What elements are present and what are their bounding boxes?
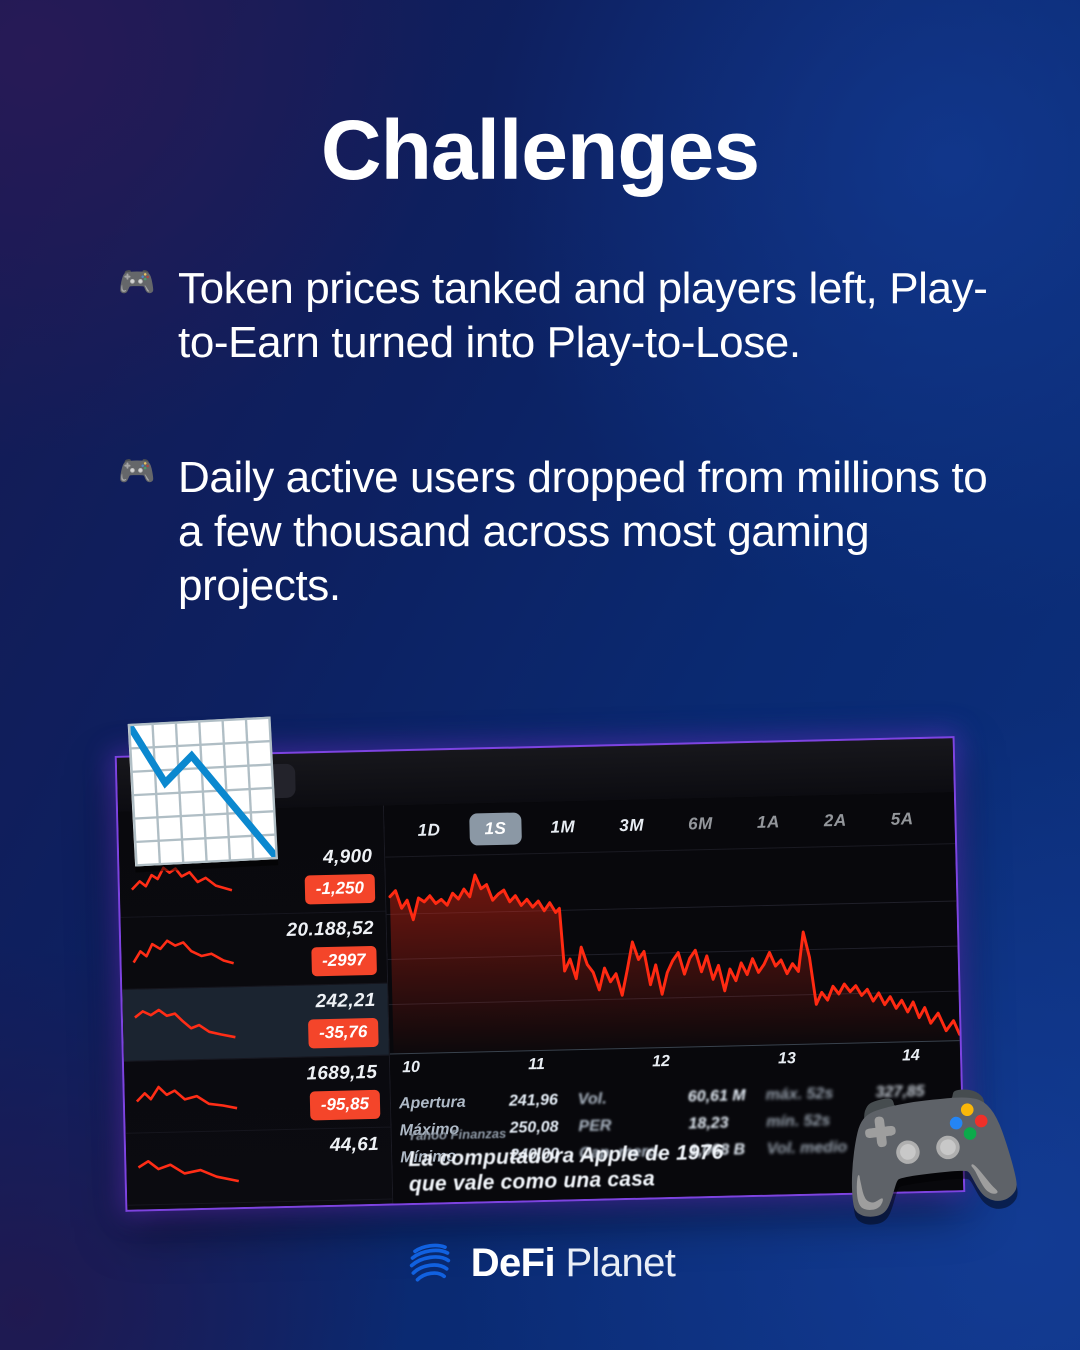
watch-value: 242,21 xyxy=(315,990,375,1013)
x-tick: 10 xyxy=(402,1059,420,1077)
watch-value: 20.188,52 xyxy=(286,918,374,942)
status-badge: -2997 xyxy=(311,946,377,977)
tab-3m[interactable]: 3M xyxy=(604,809,660,842)
bullet-text: Token prices tanked and players left, Pl… xyxy=(178,262,988,369)
x-tick: 13 xyxy=(778,1050,796,1068)
sparkline-icon xyxy=(136,1145,241,1187)
detail-value: 60,61 M xyxy=(688,1087,746,1106)
sparkline-icon xyxy=(134,1073,239,1115)
detail-value: 241,96 xyxy=(509,1092,558,1111)
table-row[interactable]: 44,61 xyxy=(126,1128,393,1206)
table-row[interactable]: 1689,15 -95,85 xyxy=(124,1056,391,1134)
status-badge: -1,250 xyxy=(304,874,375,905)
watch-value: 4,900 xyxy=(323,846,373,869)
watch-value: 44,61 xyxy=(330,1134,380,1157)
tab-1s[interactable]: 1S xyxy=(469,812,522,845)
x-tick: 11 xyxy=(528,1056,545,1074)
globe-icon xyxy=(405,1238,455,1288)
x-tick: 14 xyxy=(902,1047,920,1065)
status-badge: -35,76 xyxy=(308,1018,379,1049)
brand-wordmark: DeFi Planet xyxy=(471,1241,676,1286)
table-row[interactable]: 242,21 -35,76 xyxy=(122,984,389,1062)
sparkline-icon xyxy=(131,929,236,971)
tab-2a[interactable]: 2A xyxy=(808,804,862,837)
page-title: Challenges xyxy=(0,108,1080,194)
watch-value: 1689,15 xyxy=(306,1062,377,1086)
sparkline-icon xyxy=(133,1001,238,1043)
bullet-text: Daily active users dropped from millions… xyxy=(178,451,988,612)
tab-6m[interactable]: 6M xyxy=(673,807,729,840)
table-row: Vol. 60,61 M xyxy=(578,1087,746,1109)
tab-1m[interactable]: 1M xyxy=(535,810,591,843)
news-item[interactable]: Yahoo Finanzas La computadora Apple de 1… xyxy=(408,1121,740,1197)
brand-footer: DeFi Planet xyxy=(0,1238,1080,1288)
brand-defi: DeFi xyxy=(471,1241,555,1285)
detail-label: Apertura xyxy=(399,1093,509,1114)
bullet-list: 🎮 Token prices tanked and players left, … xyxy=(118,262,988,612)
chart-decreasing-coins-icon: 📉 xyxy=(119,722,287,860)
news-headline: La computadora Apple de 1976 que vale co… xyxy=(408,1141,739,1197)
tab-1d[interactable]: 1D xyxy=(402,813,456,846)
price-line-chart xyxy=(385,844,959,1053)
detail-label: Vol. xyxy=(578,1089,688,1110)
tab-1a[interactable]: 1A xyxy=(742,805,796,838)
video-game-controller-icon: 🎮 xyxy=(118,262,164,303)
list-item: 🎮 Daily active users dropped from millio… xyxy=(118,451,988,612)
tab-5a[interactable]: 5A xyxy=(875,802,929,835)
table-row[interactable]: 20.188,52 -2997 xyxy=(121,912,388,990)
table-row: Apertura 241,96 xyxy=(399,1092,558,1114)
game-controller-icon: 🎮 xyxy=(828,1065,1032,1237)
status-badge: -95,85 xyxy=(310,1090,381,1121)
slide-canvas: Challenges 🎮 Token prices tanked and pla… xyxy=(0,0,1080,1350)
brand-planet: Planet xyxy=(555,1241,675,1285)
video-game-controller-icon: 🎮 xyxy=(118,451,164,492)
tab-max[interactable]: MAX xyxy=(942,800,963,834)
x-tick: 12 xyxy=(652,1053,670,1071)
list-item: 🎮 Token prices tanked and players left, … xyxy=(118,262,988,369)
